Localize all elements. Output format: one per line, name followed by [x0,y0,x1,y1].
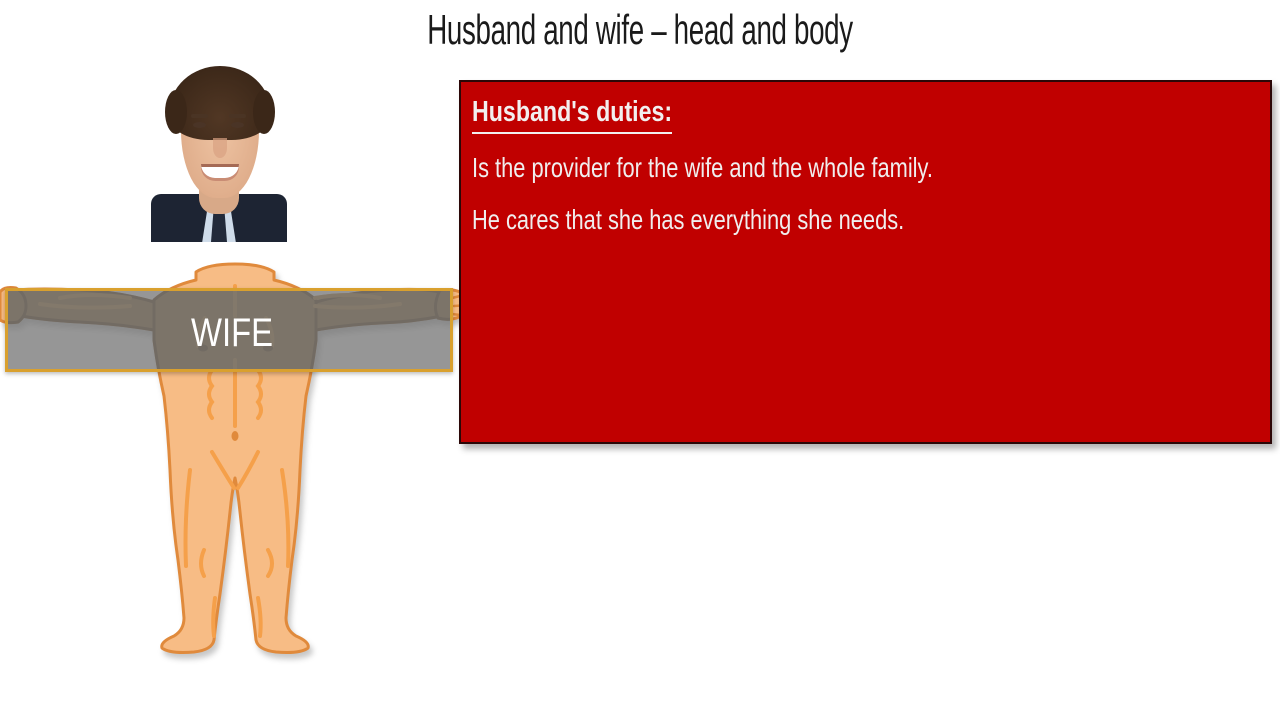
eyebrow-right [229,114,246,118]
duties-line-1: Is the provider for the wife and the who… [472,142,1094,195]
husband-duties-box: Husband's duties: Is the provider for th… [459,80,1272,444]
eyebrow-left [191,114,208,118]
eye-right [231,122,244,128]
duties-line-2: He cares that she has everything she nee… [472,194,1094,247]
wife-banner-label: WIFE [48,291,415,375]
page-title: Husband and wife – head and body [218,6,1063,54]
husband-head-photo [143,60,295,242]
nose [213,138,227,158]
eye-left [193,122,206,128]
duties-heading: Husband's duties: [472,94,672,134]
hair [169,66,271,140]
husband-wife-figure: WIFE [0,60,470,670]
wife-banner: WIFE [5,288,453,372]
